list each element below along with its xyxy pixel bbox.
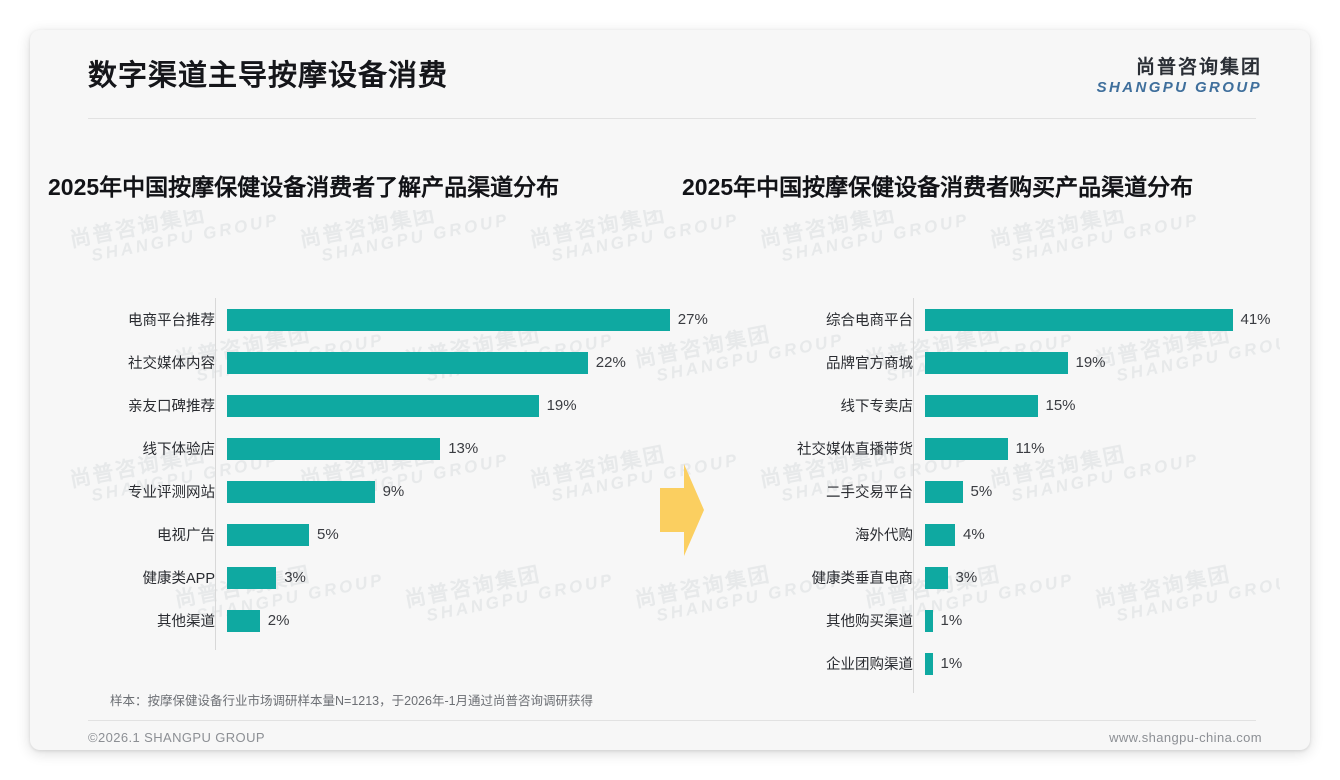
bar xyxy=(925,395,1038,417)
right-arrow-icon xyxy=(660,462,704,558)
chart-bar-row: 专业评测网站9% xyxy=(60,470,670,513)
chart-bar-row: 其他购买渠道1% xyxy=(710,599,1280,642)
footer-copyright: ©2026.1 SHANGPU GROUP xyxy=(88,730,265,745)
bar xyxy=(925,438,1008,460)
bar-category-label: 电商平台推荐 xyxy=(60,309,227,330)
bar xyxy=(227,610,260,632)
chart-bar-row: 电商平台推荐27% xyxy=(60,298,670,341)
bar-category-label: 社交媒体直播带货 xyxy=(710,438,925,459)
bar xyxy=(227,309,670,331)
bar-category-label: 健康类垂直电商 xyxy=(710,567,925,588)
bar-category-label: 健康类APP xyxy=(60,567,227,588)
bar xyxy=(227,524,309,546)
bar-category-label: 其他购买渠道 xyxy=(710,610,925,631)
bar-category-label: 专业评测网站 xyxy=(60,481,227,502)
chart-bar-row: 线下体验店13% xyxy=(60,427,670,470)
right-chart-title: 2025年中国按摩保健设备消费者购买产品渠道分布 xyxy=(682,168,1193,202)
left-chart-title: 2025年中国按摩保健设备消费者了解产品渠道分布 xyxy=(48,168,559,202)
bar-category-label: 其他渠道 xyxy=(60,610,227,631)
chart-bar-row: 健康类垂直电商3% xyxy=(710,556,1280,599)
chart-bar-row: 健康类APP3% xyxy=(60,556,670,599)
bar xyxy=(227,395,539,417)
bar xyxy=(925,524,955,546)
header-divider xyxy=(88,118,1256,119)
bar xyxy=(227,352,588,374)
chart-bar-row: 海外代购4% xyxy=(710,513,1280,556)
right-chart-rows: 综合电商平台41%品牌官方商城19%线下专卖店15%社交媒体直播带货11%二手交… xyxy=(710,298,1280,685)
bar-category-label: 海外代购 xyxy=(710,524,925,545)
bar-category-label: 线下体验店 xyxy=(60,438,227,459)
bar-category-label: 电视广告 xyxy=(60,524,227,545)
bar-value-label: 41% xyxy=(1241,311,1271,328)
bar-value-label: 1% xyxy=(941,612,963,629)
bar-value-label: 22% xyxy=(596,354,626,371)
bar-value-label: 19% xyxy=(1076,354,1106,371)
bar-value-label: 5% xyxy=(317,526,339,543)
left-chart-panel: 电商平台推荐27%社交媒体内容22%亲友口碑推荐19%线下体验店13%专业评测网… xyxy=(60,240,670,680)
logo-chinese-text: 尚普咨询集团 xyxy=(1097,58,1262,78)
chart-bar-row: 电视广告5% xyxy=(60,513,670,556)
bar xyxy=(925,481,963,503)
slide-card: 数字渠道主导按摩设备消费 尚普咨询集团 SHANGPU GROUP 2025年中… xyxy=(30,30,1310,750)
bar-category-label: 线下专卖店 xyxy=(710,395,925,416)
right-chart-panel: 综合电商平台41%品牌官方商城19%线下专卖店15%社交媒体直播带货11%二手交… xyxy=(710,240,1280,680)
logo-english-text: SHANGPU GROUP xyxy=(1097,80,1262,96)
bar xyxy=(925,567,948,589)
chart-bar-row: 综合电商平台41% xyxy=(710,298,1280,341)
bar-value-label: 1% xyxy=(941,655,963,672)
bar-value-label: 13% xyxy=(448,440,478,457)
chart-bar-row: 品牌官方商城19% xyxy=(710,341,1280,384)
page-title: 数字渠道主导按摩设备消费 xyxy=(88,52,448,94)
footer-divider xyxy=(88,720,1256,721)
bar-value-label: 5% xyxy=(971,483,993,500)
bar xyxy=(925,653,933,675)
chart-bar-row: 社交媒体内容22% xyxy=(60,341,670,384)
chart-bar-row: 亲友口碑推荐19% xyxy=(60,384,670,427)
chart-bar-row: 企业团购渠道1% xyxy=(710,642,1280,685)
bar-category-label: 二手交易平台 xyxy=(710,481,925,502)
footer-website: www.shangpu-china.com xyxy=(1109,730,1262,745)
bar-value-label: 2% xyxy=(268,612,290,629)
chart-bar-row: 二手交易平台5% xyxy=(710,470,1280,513)
bar-value-label: 15% xyxy=(1046,397,1076,414)
bar-value-label: 3% xyxy=(956,569,978,586)
brand-logo: 尚普咨询集团 SHANGPU GROUP xyxy=(1097,58,1262,96)
bar-value-label: 9% xyxy=(383,483,405,500)
chart-bar-row: 线下专卖店15% xyxy=(710,384,1280,427)
chart-bar-row: 社交媒体直播带货11% xyxy=(710,427,1280,470)
slide-header: 数字渠道主导按摩设备消费 尚普咨询集团 SHANGPU GROUP xyxy=(30,30,1310,118)
bar-category-label: 亲友口碑推荐 xyxy=(60,395,227,416)
bar-value-label: 11% xyxy=(1016,440,1045,457)
bar xyxy=(925,309,1233,331)
left-chart-rows: 电商平台推荐27%社交媒体内容22%亲友口碑推荐19%线下体验店13%专业评测网… xyxy=(60,298,670,642)
bar-value-label: 27% xyxy=(678,311,708,328)
bar-value-label: 4% xyxy=(963,526,985,543)
bar-category-label: 社交媒体内容 xyxy=(60,352,227,373)
bar-value-label: 19% xyxy=(547,397,577,414)
slide-root: 数字渠道主导按摩设备消费 尚普咨询集团 SHANGPU GROUP 2025年中… xyxy=(0,0,1340,780)
bar-category-label: 企业团购渠道 xyxy=(710,653,925,674)
chart-bar-row: 其他渠道2% xyxy=(60,599,670,642)
bar xyxy=(925,352,1068,374)
bar xyxy=(227,438,440,460)
bar-category-label: 综合电商平台 xyxy=(710,309,925,330)
bar xyxy=(227,567,276,589)
bar-category-label: 品牌官方商城 xyxy=(710,352,925,373)
bar xyxy=(227,481,375,503)
bar xyxy=(925,610,933,632)
bar-value-label: 3% xyxy=(284,569,306,586)
sample-footnote: 样本：按摩保健设备行业市场调研样本量N=1213，于2026年-1月通过尚普咨询… xyxy=(110,690,593,709)
